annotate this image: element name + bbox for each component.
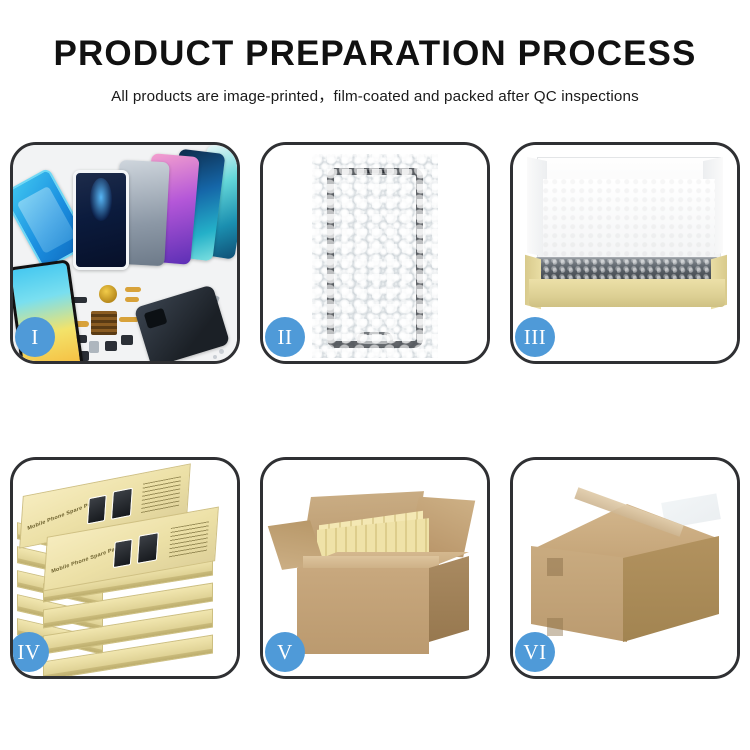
carton-seam-lower bbox=[547, 618, 563, 636]
step-panel-3: III bbox=[510, 142, 740, 364]
bubble-wrap-sheet bbox=[312, 154, 438, 358]
box-front-panel bbox=[529, 279, 725, 307]
box-lid-spec-lines-b bbox=[169, 521, 209, 558]
carton-side-face bbox=[429, 556, 469, 642]
box-lid-thumb-b2 bbox=[137, 532, 159, 564]
carton-seam-upper bbox=[547, 558, 563, 576]
step-panel-2: II bbox=[260, 142, 490, 364]
box-lid-thumb-a2 bbox=[111, 488, 133, 520]
carton-front-face bbox=[297, 568, 429, 654]
part-wireless-coil bbox=[99, 285, 117, 303]
step-badge-5: V bbox=[265, 632, 305, 672]
part-flex-cable-2 bbox=[125, 297, 139, 302]
bubble-texture-overlay bbox=[312, 154, 438, 358]
page-title: PRODUCT PREPARATION PROCESS bbox=[0, 36, 750, 73]
part-connector-2 bbox=[105, 341, 117, 351]
step-badge-6: VI bbox=[515, 632, 555, 672]
phone-black-screen bbox=[73, 170, 129, 270]
phone-back-plate bbox=[134, 284, 231, 361]
box-lid-thumb-b1 bbox=[113, 539, 133, 568]
box-lid-spec-lines-a bbox=[141, 476, 181, 514]
foam-insert bbox=[543, 179, 715, 265]
step-badge-2: II bbox=[265, 317, 305, 357]
box-lid-thumb-a1 bbox=[87, 495, 107, 525]
page-subtitle: All products are image-printed，film-coat… bbox=[0, 84, 750, 106]
step-panel-6: VI bbox=[510, 457, 740, 679]
part-screw-2 bbox=[219, 349, 224, 354]
part-camera-module bbox=[89, 341, 99, 353]
product-preparation-infographic: PRODUCT PREPARATION PROCESS All products… bbox=[0, 0, 750, 750]
process-steps-grid: I II bbox=[10, 142, 740, 679]
header: PRODUCT PREPARATION PROCESS All products… bbox=[0, 0, 750, 106]
step-panel-1: I bbox=[10, 142, 240, 364]
box-lid-label-second: Mobile Phone Spare Parts bbox=[51, 544, 123, 575]
step-panel-5: V bbox=[260, 457, 490, 679]
step-badge-3: III bbox=[515, 317, 555, 357]
part-connector-3 bbox=[121, 335, 133, 345]
step-panel-4: Mobile Phone Spare Parts Mobile Phone Sp… bbox=[10, 457, 240, 679]
part-flex-cable-1 bbox=[125, 287, 141, 292]
part-screw-3 bbox=[213, 355, 217, 359]
part-logic-board bbox=[91, 311, 117, 335]
step-badge-4: IV bbox=[10, 632, 49, 672]
sealed-carton-left-face bbox=[531, 546, 627, 642]
step-badge-1: I bbox=[15, 317, 55, 357]
